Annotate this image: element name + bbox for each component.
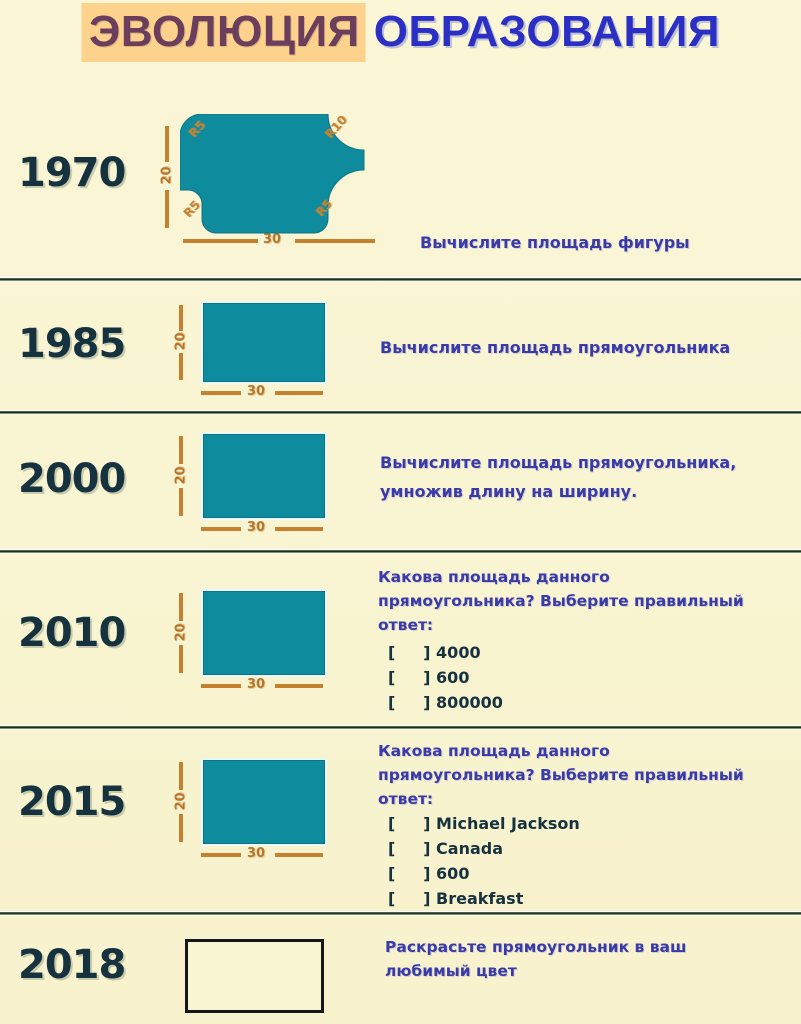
dim-label-width: 30 [247,846,265,861]
row-2010: 2010 20 30 Какова площадь данного прямоу… [0,555,801,725]
option-checkbox-bracket[interactable]: [ ] [388,643,436,662]
dim-label-width: 30 [247,677,265,692]
question-2015-line1: Какова площадь данного [378,739,744,763]
dim-label-height: 20 [174,332,189,352]
divider-4 [0,725,801,730]
option-label: 800000 [436,693,503,712]
option-2010-1[interactable]: [ ] 600 [388,665,503,690]
dim-line-vertical-top [179,762,183,790]
option-2015-0[interactable]: [ ] Michael Jackson [388,811,580,836]
dim-line-vertical-top [165,126,169,162]
option-2015-2[interactable]: [ ] 600 [388,861,580,886]
option-checkbox-bracket[interactable]: [ ] [388,864,436,883]
option-2010-0[interactable]: [ ] 4000 [388,640,503,665]
year-label-1985: 1985 [18,321,125,367]
dim-line-vertical-bottom [179,645,183,673]
dim-label-height: 20 [160,166,175,186]
dim-line-horizontal-right [275,684,323,688]
dim-line-vertical-top [179,593,183,621]
dim-line-vertical-bottom [165,190,169,228]
infographic-page: ЭВОЛЮЦИЯОБРАЗОВАНИЯ 1970 20 30 R5 R10 R5… [0,0,801,1024]
option-2015-1[interactable]: [ ] Canada [388,836,580,861]
figure-2015: 20 30 [165,756,345,861]
question-2015-line2: прямоугольника? Выберите правильный [378,763,744,787]
title-rest-word: ОБРАЗОВАНИЯ [366,7,720,56]
option-label: 600 [436,864,469,883]
dim-label-width: 30 [247,384,265,399]
title-highlighted-word: ЭВОЛЮЦИЯ [81,3,366,62]
row-2015: 2015 20 30 Какова площадь данного прямоу… [0,731,801,911]
row-2018: 2018 Раскрасьте прямоугольник в ваш люби… [0,917,801,1024]
dim-line-horizontal-right [275,527,323,531]
question-2000: Вычислите площадь прямоугольника, умножи… [380,448,736,506]
question-2015: Какова площадь данного прямоугольника? В… [378,739,744,811]
dim-line-vertical-bottom [179,488,183,516]
figure-1970: 20 30 R5 R10 R5 R5 [155,108,390,258]
question-2010-line2: прямоугольника? Выберите правильный [378,589,744,613]
dim-line-vertical-top [179,305,183,331]
dim-label-height: 20 [174,792,189,812]
dim-line-horizontal-right [275,853,323,857]
option-checkbox-bracket[interactable]: [ ] [388,668,436,687]
question-2010-line3: ответ: [378,613,744,637]
dim-line-vertical-top [179,436,183,464]
question-2015-line3: ответ: [378,787,744,811]
teal-rectangle-1985 [203,303,325,382]
divider-2 [0,410,801,415]
option-label: 600 [436,668,469,687]
teal-rectangle-2010 [203,591,325,675]
figure-1985: 20 30 [165,299,345,399]
row-1985: 1985 20 30 Вычислите площадь прямоугольн… [0,283,801,411]
year-label-2000: 2000 [18,456,125,502]
row-1970: 1970 20 30 R5 R10 R5 R5 Вычислите площад… [0,78,801,278]
option-checkbox-bracket[interactable]: [ ] [388,693,436,712]
dim-label-height: 20 [174,466,189,486]
divider-5 [0,911,801,916]
row-2000: 2000 20 30 Вычислите площадь прямоугольн… [0,416,801,549]
question-2010-line1: Какова площадь данного [378,565,744,589]
question-2000-line2: умножив длину на ширину. [380,477,736,506]
option-label: Breakfast [436,889,523,908]
question-2018: Раскрасьте прямоугольник в ваш любимый ц… [385,935,686,983]
option-2010-2[interactable]: [ ] 800000 [388,690,503,715]
dim-line-horizontal-left [201,853,241,857]
option-2015-3[interactable]: [ ] Breakfast [388,886,580,911]
teal-rectangle-2015 [203,760,325,844]
year-label-2018: 2018 [18,942,125,988]
question-2010: Какова площадь данного прямоугольника? В… [378,565,744,637]
figure-2010: 20 30 [165,587,345,692]
title-text: ЭВОЛЮЦИЯОБРАЗОВАНИЯ [81,4,720,60]
dim-line-horizontal-left [201,391,241,395]
question-2018-line2: любимый цвет [385,959,686,983]
dim-label-width: 30 [247,520,265,535]
option-checkbox-bracket[interactable]: [ ] [388,889,436,908]
year-label-2010: 2010 [18,610,125,656]
dim-line-horizontal-left [201,527,241,531]
question-2000-line1: Вычислите площадь прямоугольника, [380,448,736,477]
dim-line-horizontal-left [201,684,241,688]
figure-2000: 20 30 [165,430,345,535]
dim-line-horizontal-left [183,239,258,243]
divider-3 [0,549,801,554]
option-label: Michael Jackson [436,814,580,833]
question-2018-line1: Раскрасьте прямоугольник в ваш [385,935,686,959]
options-2015: [ ] Michael Jackson [ ] Canada [ ] 600 [… [388,811,580,911]
question-1970: Вычислите площадь фигуры [420,228,690,257]
dim-line-vertical-bottom [179,814,183,842]
option-checkbox-bracket[interactable]: [ ] [388,839,436,858]
dim-line-horizontal-right [295,239,375,243]
option-label: 4000 [436,643,481,662]
option-checkbox-bracket[interactable]: [ ] [388,814,436,833]
page-title: ЭВОЛЮЦИЯОБРАЗОВАНИЯ [0,0,801,72]
divider-1 [0,277,801,282]
dim-line-vertical-bottom [179,353,183,380]
option-label: Canada [436,839,503,858]
dim-label-height: 20 [174,623,189,643]
question-1985: Вычислите площадь прямоугольника [380,333,730,362]
irregular-shape-svg [180,114,380,234]
options-2010: [ ] 4000 [ ] 600 [ ] 800000 [388,640,503,715]
dim-label-width: 30 [263,232,281,247]
year-label-2015: 2015 [18,779,125,825]
empty-rectangle-2018[interactable] [185,939,324,1013]
figure-2018 [165,927,345,1019]
dim-line-horizontal-right [275,391,323,395]
year-label-1970: 1970 [18,150,125,196]
teal-rectangle-2000 [203,434,325,518]
